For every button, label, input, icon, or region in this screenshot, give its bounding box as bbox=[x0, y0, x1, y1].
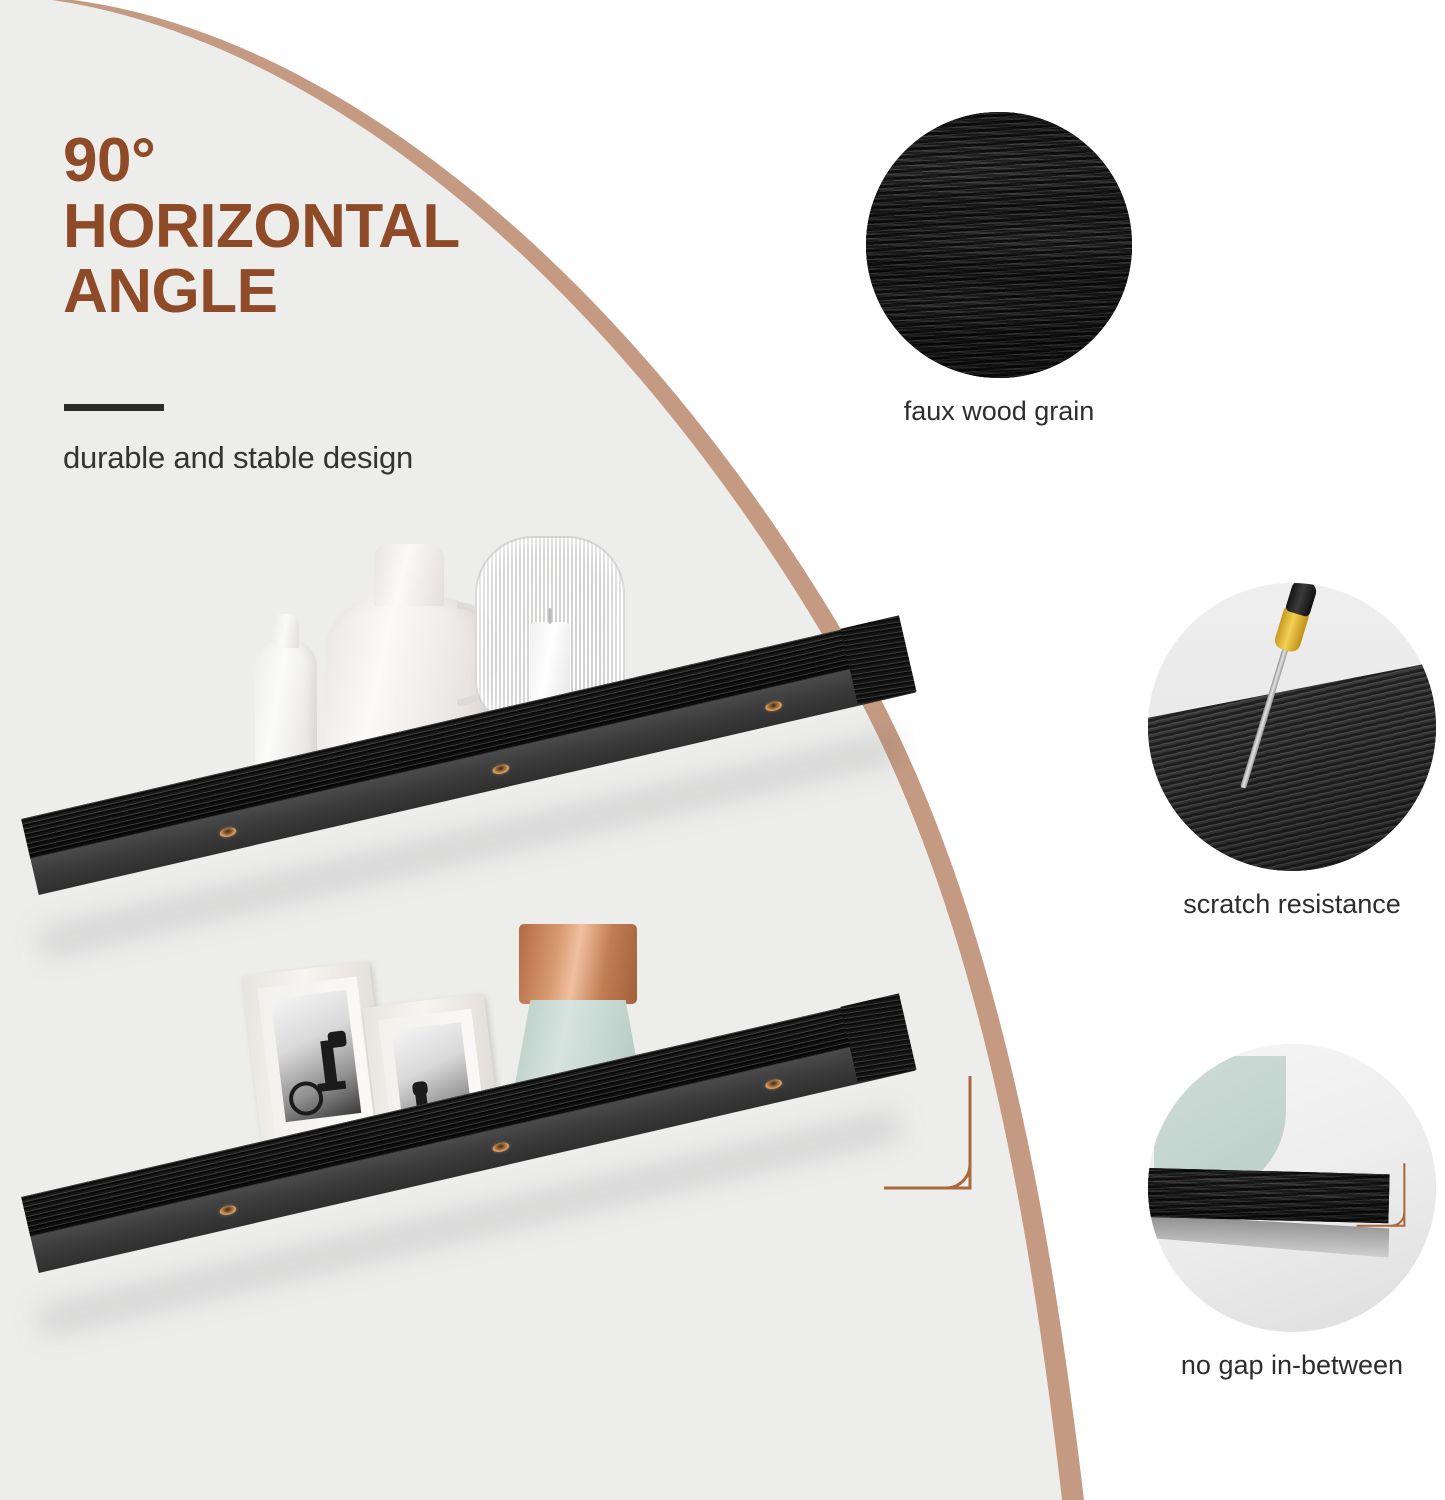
headline-line-3: ANGLE bbox=[63, 259, 663, 325]
mounting-screw bbox=[491, 1141, 510, 1154]
wood-grain-texture bbox=[866, 112, 1132, 378]
feature-scratch-resistance: scratch resistance bbox=[1148, 583, 1436, 920]
candle-wick bbox=[549, 608, 552, 624]
vase-copper-top bbox=[519, 924, 637, 1004]
shelf-edge-texture bbox=[1148, 1167, 1391, 1223]
shelf-front-edge bbox=[1148, 1167, 1391, 1223]
headline-line-1: 90° bbox=[63, 128, 663, 194]
feature-faux-wood-grain: faux wood grain bbox=[866, 112, 1132, 427]
feature-caption-no-gap-in-between: no gap in-between bbox=[1148, 1350, 1436, 1381]
feature-caption-faux-wood-grain: faux wood grain bbox=[866, 396, 1132, 427]
product-scene bbox=[0, 500, 1010, 1330]
mounting-screw bbox=[764, 1078, 783, 1091]
wood-grain-swatch-icon bbox=[866, 112, 1132, 378]
screwdriver-icon bbox=[1148, 583, 1436, 871]
feature-caption-scratch-resistance: scratch resistance bbox=[1148, 889, 1436, 920]
feature-no-gap-in-between: no gap in-between bbox=[1148, 1044, 1436, 1381]
right-angle-marker bbox=[880, 1070, 990, 1200]
mounting-screw bbox=[219, 826, 238, 839]
photo-motif-head bbox=[412, 1081, 429, 1097]
vase-neck bbox=[374, 544, 444, 606]
page-title: 90° HORIZONTAL ANGLE bbox=[63, 128, 663, 325]
subtitle: durable and stable design bbox=[63, 440, 413, 476]
mounting-screw bbox=[764, 700, 783, 713]
vase-neck bbox=[273, 614, 299, 648]
headline-line-2: HORIZONTAL bbox=[63, 194, 663, 260]
title-divider-rule bbox=[64, 404, 164, 411]
photo-motif-head bbox=[327, 1030, 347, 1048]
flush-shelf-edge-icon bbox=[1148, 1044, 1436, 1332]
right-angle-marker-icon bbox=[1355, 1148, 1413, 1246]
frame-photo bbox=[271, 990, 362, 1122]
mounting-screw bbox=[491, 763, 510, 776]
product-feature-graphic: 90° HORIZONTAL ANGLE durable and stable … bbox=[0, 0, 1445, 1500]
mounting-screw bbox=[219, 1204, 238, 1217]
shelf-edge-grain bbox=[1148, 1167, 1391, 1223]
